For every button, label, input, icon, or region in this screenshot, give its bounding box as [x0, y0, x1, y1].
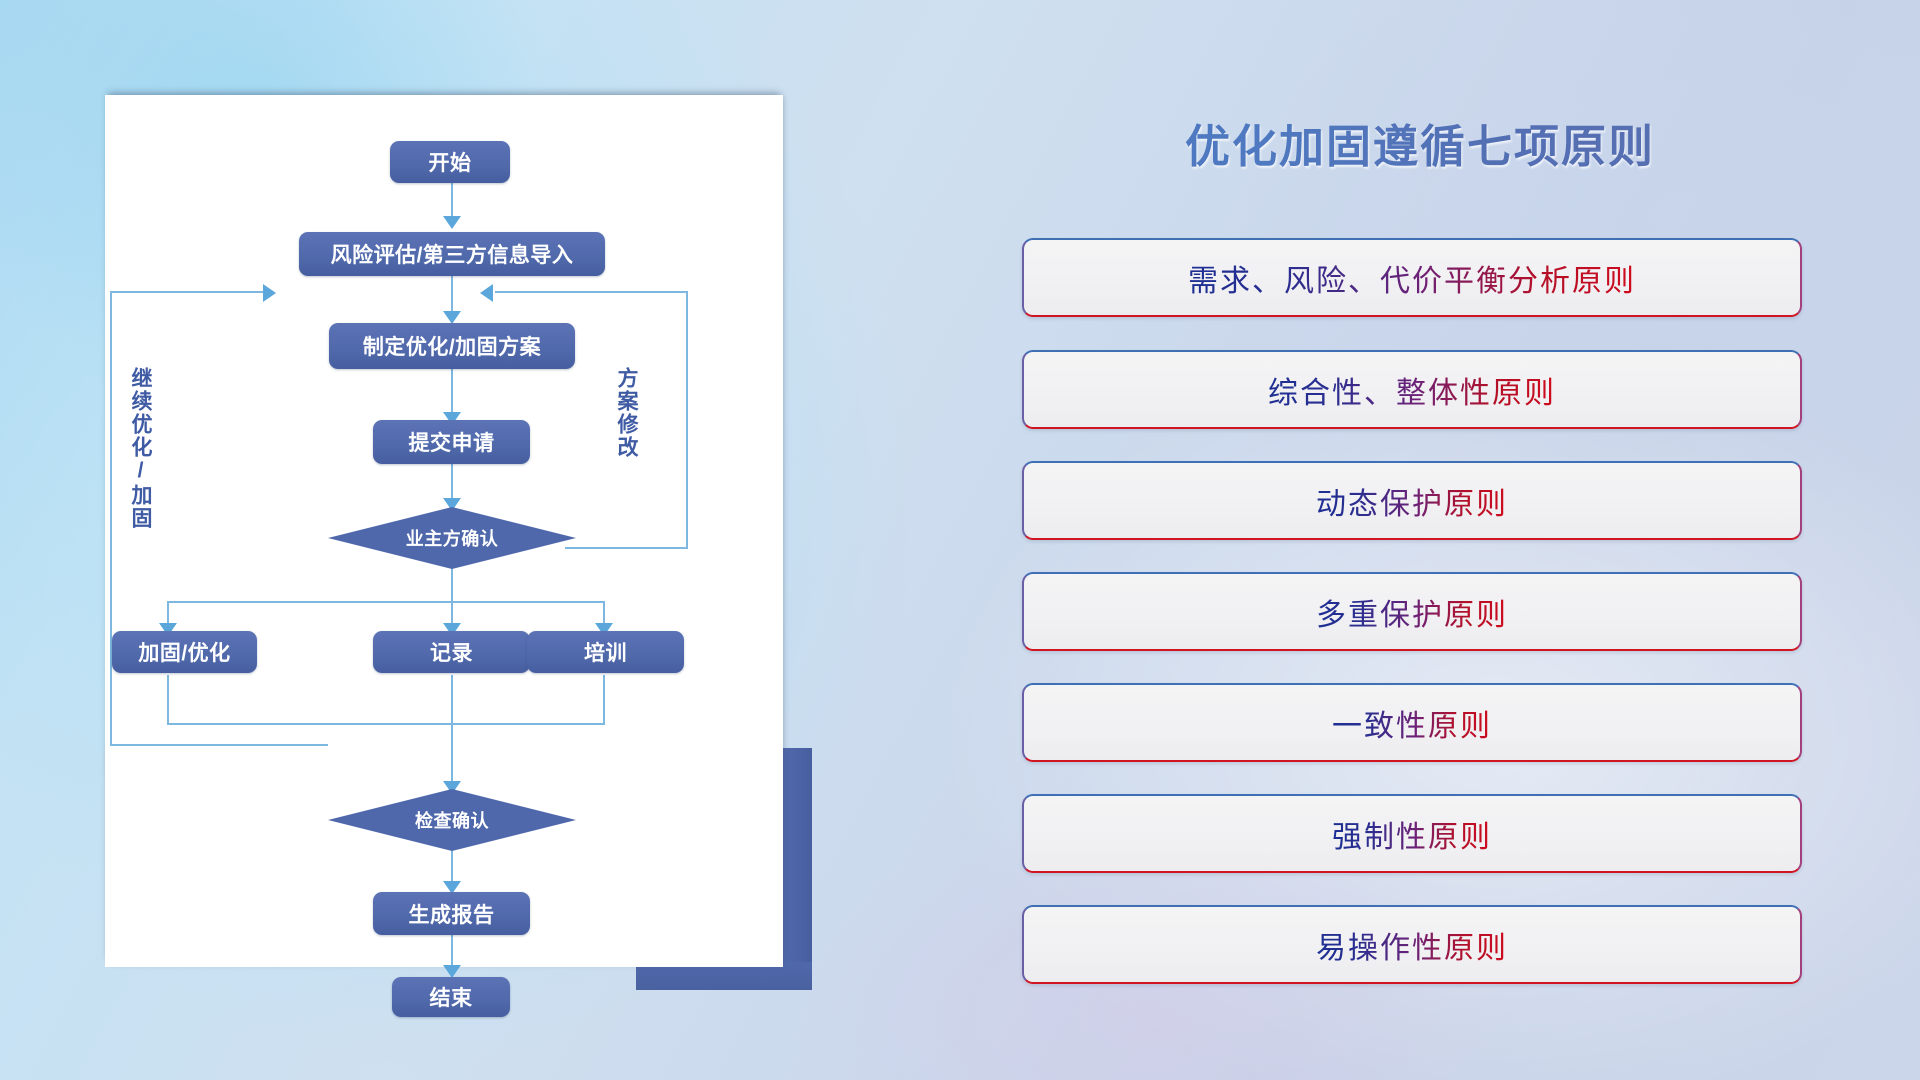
flow-node-submit[interactable]: 提交申请: [373, 420, 530, 464]
principle-item-6-label: 强制性原则: [1332, 812, 1492, 856]
edge-label-plan-revision: 方案修改: [615, 367, 637, 459]
flow-node-owner-confirm-label: 业主方确认: [406, 525, 499, 551]
flow-node-record-label: 记录: [430, 637, 473, 667]
connector-owner-bus: [451, 567, 453, 603]
principle-item-4[interactable]: 多重保护原则: [1022, 572, 1802, 651]
flow-node-report-label: 生成报告: [409, 899, 495, 929]
flow-node-end-label: 结束: [430, 982, 473, 1012]
arrowhead-plan-left: [263, 284, 276, 302]
principle-item-5-label: 一致性原则: [1332, 701, 1492, 745]
flow-node-risk-assessment-label: 风险评估/第三方信息导入: [331, 239, 574, 269]
connector-loop-left-bottom: [110, 744, 328, 746]
arrowhead-assess: [443, 216, 461, 229]
flow-node-risk-assessment[interactable]: 风险评估/第三方信息导入: [299, 232, 605, 276]
connector-plan-submit: [451, 367, 453, 417]
principle-item-3-label: 动态保护原则: [1316, 479, 1508, 523]
principle-item-2[interactable]: 综合性、整体性原则: [1022, 350, 1802, 429]
flow-node-record[interactable]: 记录: [373, 631, 530, 673]
principles-panel: 优化加固遵循七项原则 需求、风险、代价平衡分析原则 综合性、整体性原则 动态保护…: [1020, 110, 1820, 990]
flow-node-plan-label: 制定优化/加固方案: [363, 331, 541, 361]
connector-loop-right-top: [495, 291, 688, 293]
flow-node-check-confirm[interactable]: 检查确认: [328, 789, 576, 851]
edge-label-continue-optimize: 继续优化/加固: [129, 367, 151, 530]
principle-item-1-label: 需求、风险、代价平衡分析原则: [1188, 256, 1636, 300]
principle-item-7[interactable]: 易操作性原则: [1022, 905, 1802, 984]
flowchart-card: 开始 风险评估/第三方信息导入 制定优化/加固方案 提交申请 业主方确认 加固/…: [105, 95, 783, 967]
principle-item-1[interactable]: 需求、风险、代价平衡分析原则: [1022, 238, 1802, 317]
flow-node-reinforce-label: 加固/优化: [138, 637, 230, 667]
arrowhead-plan-right: [480, 284, 493, 302]
connector-reinforce-merge: [167, 675, 169, 725]
connector-train-merge: [603, 675, 605, 725]
flow-node-reinforce[interactable]: 加固/优化: [112, 631, 257, 673]
principle-item-5[interactable]: 一致性原则: [1022, 683, 1802, 762]
connector-loop-right-bottom: [565, 547, 688, 549]
principle-item-7-label: 易操作性原则: [1316, 923, 1508, 967]
connector-loop-left-vertical: [110, 291, 112, 746]
flow-node-submit-label: 提交申请: [409, 427, 495, 457]
principle-item-6[interactable]: 强制性原则: [1022, 794, 1802, 873]
flow-node-check-confirm-label: 检查确认: [415, 807, 489, 833]
principle-item-4-label: 多重保护原则: [1316, 590, 1508, 634]
flow-node-end[interactable]: 结束: [392, 977, 510, 1017]
branch-bus-bottom: [167, 723, 605, 725]
principle-item-3[interactable]: 动态保护原则: [1022, 461, 1802, 540]
connector-record-check: [451, 675, 453, 787]
connector-loop-right-vertical: [686, 291, 688, 549]
flow-node-plan[interactable]: 制定优化/加固方案: [329, 323, 575, 369]
connector-loop-left-top: [110, 291, 266, 293]
flow-node-training-label: 培训: [584, 637, 627, 667]
principle-item-2-label: 综合性、整体性原则: [1268, 368, 1556, 412]
flow-node-training[interactable]: 培训: [527, 631, 684, 673]
flow-node-start-label: 开始: [429, 147, 472, 177]
page-title: 优化加固遵循七项原则: [1020, 110, 1820, 175]
flow-node-owner-confirm[interactable]: 业主方确认: [328, 507, 576, 569]
flow-node-report[interactable]: 生成报告: [373, 892, 530, 935]
branch-bus-top: [167, 601, 605, 603]
flow-node-start[interactable]: 开始: [390, 141, 510, 183]
